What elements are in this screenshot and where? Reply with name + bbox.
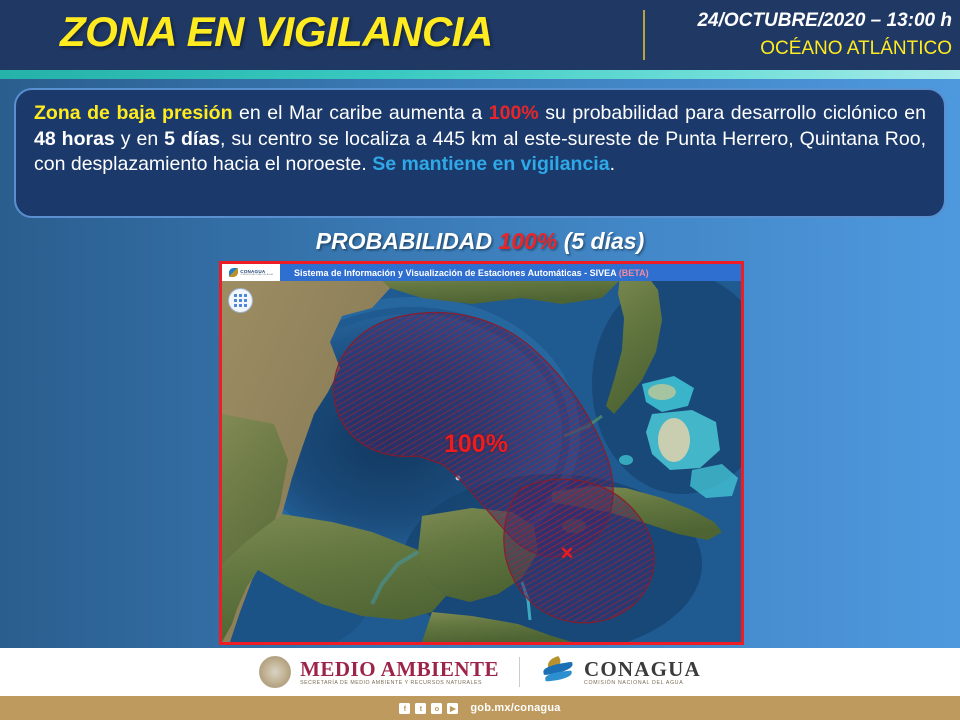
teal-accent-strip [0,70,960,79]
grid-menu-icon[interactable] [228,288,253,313]
advisory-segment: su probabilidad para desarrollo ciclónic… [539,102,926,124]
caption-value: 100% [498,228,557,254]
ministry-name: MEDIO AMBIENTE [300,658,499,680]
sivea-title: Sistema de Información y Visualización d… [294,268,649,278]
probability-label-100: 100% [444,430,508,459]
storm-center-marker: ✕ [560,544,574,564]
conagua-wave-icon [540,657,576,687]
advisory-segment: 48 horas [34,128,115,150]
conagua-bird-glyph [229,268,238,277]
social-bar: f t o ▶ gob.mx/conagua [0,696,960,720]
advisory-segment: . [610,153,615,175]
page-title: ZONA EN VIGILANCIA [60,8,493,56]
footer-divider [519,657,520,687]
medio-ambiente-logo: MEDIO AMBIENTE SECRETARÍA DE MEDIO AMBIE… [259,656,499,688]
advisory-segment: Se mantiene en vigilancia [372,153,609,175]
advisory-segment: Zona de baja presión [34,102,232,124]
agency-subtitle: COMISIÓN NACIONAL DEL AGUA [584,680,701,687]
sivea-beta-tag: (BETA) [619,268,649,278]
advisory-datetime: 24/OCTUBRE/2020 – 13:00 h [697,10,952,32]
advisory-segment: en el Mar caribe aumenta a [232,102,488,124]
website-url: gob.mx/conagua [470,702,560,714]
caption-prefix: PROBABILIDAD [316,228,499,254]
advisory-segment: 100% [489,102,539,124]
facebook-icon[interactable]: f [399,703,410,714]
youtube-icon[interactable]: ▶ [447,703,458,714]
instagram-icon[interactable]: o [431,703,442,714]
sivea-title-bar: CONAGUA COMISIÓN NACIONAL DEL AGUA Siste… [222,264,741,281]
advisory-segment: y en [115,128,164,150]
conagua-logo: CONAGUA COMISIÓN NACIONAL DEL AGUA [540,657,701,687]
forecast-map[interactable]: CONAGUA COMISIÓN NACIONAL DEL AGUA Siste… [219,261,744,645]
ocean-basin-label: OCÉANO ATLÁNTICO [760,38,952,60]
header-divider [643,10,645,60]
advisory-text: Zona de baja presión en el Mar caribe au… [34,101,926,178]
mexico-seal-icon [259,656,291,688]
sivea-title-text: Sistema de Información y Visualización d… [294,268,616,278]
agency-name: CONAGUA [584,658,701,680]
probability-caption: PROBABILIDAD 100% (5 días) [0,228,960,255]
advisory-segment: 5 días [164,128,220,150]
caption-suffix: (5 días) [557,228,644,254]
header-banner: ZONA EN VIGILANCIA 24/OCTUBRE/2020 – 13:… [0,0,960,70]
sivea-logo-sub: COMISIÓN NACIONAL DEL AGUA [240,274,273,277]
twitter-icon[interactable]: t [415,703,426,714]
ministry-subtitle: SECRETARÍA DE MEDIO AMBIENTE Y RECURSOS … [300,680,499,687]
footer-logos: MEDIO AMBIENTE SECRETARÍA DE MEDIO AMBIE… [0,648,960,696]
conagua-logo-icon: CONAGUA COMISIÓN NACIONAL DEL AGUA [222,264,280,281]
advisory-panel: Zona de baja presión en el Mar caribe au… [14,88,946,218]
